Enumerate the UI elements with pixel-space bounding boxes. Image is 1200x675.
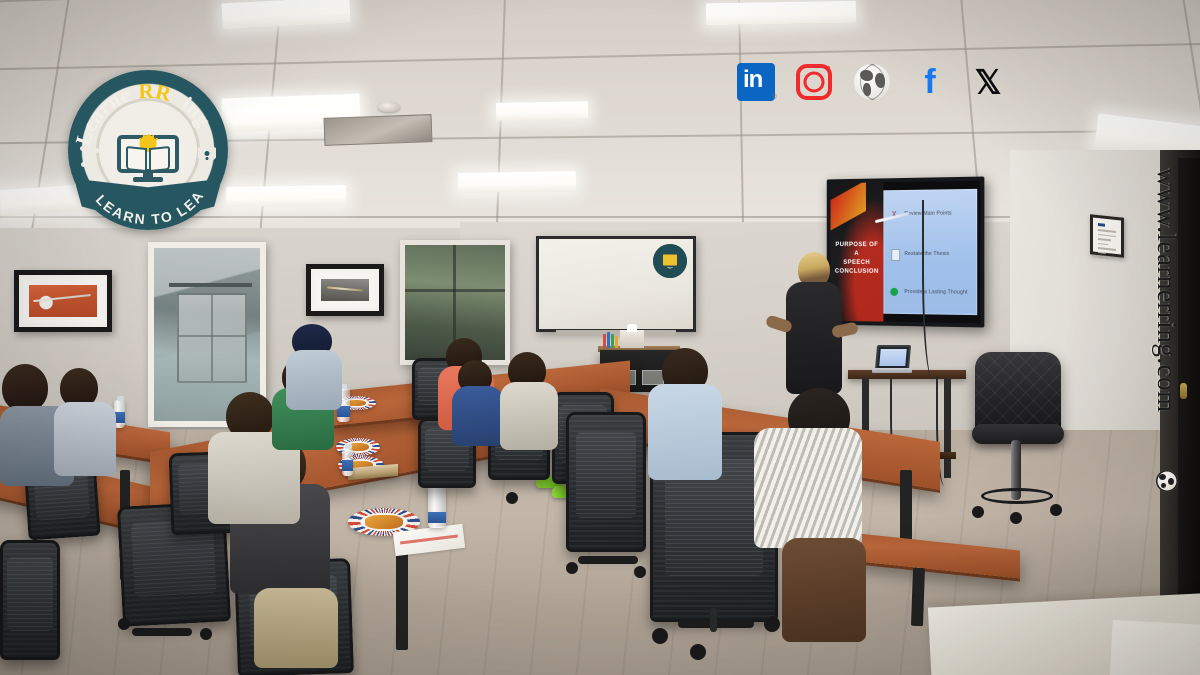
whiteboard-logo-decal: [653, 244, 687, 278]
photo-image: [29, 285, 97, 317]
student: [286, 324, 344, 410]
barn-door: [177, 293, 247, 383]
document-icon: [889, 248, 901, 260]
social-icon-bar: in ® f 𝕏: [735, 58, 995, 106]
presenter-body: [786, 282, 842, 394]
chair-caster: [200, 628, 212, 640]
registered-mark: ®: [772, 93, 777, 101]
stool-caster: [972, 506, 984, 518]
whiteboard: [536, 236, 696, 332]
student-body: [286, 350, 342, 410]
chair-base: [132, 628, 192, 636]
linkedin-label: in: [743, 66, 762, 94]
student: [500, 352, 558, 448]
bottle-label: [428, 512, 446, 523]
student-body: [648, 384, 722, 480]
website-globe-icon[interactable]: [851, 61, 893, 103]
smoke-detector-icon: [378, 102, 400, 112]
window-mullion: [405, 289, 505, 292]
instagram-icon[interactable]: [793, 61, 835, 103]
water-bottle: [342, 448, 353, 476]
aircraft-photo: [306, 264, 384, 316]
svg-text:LEARN TO LEAD: LEARN TO LEAD: [68, 70, 207, 227]
globe-badge: [854, 64, 890, 100]
chair-caster: [566, 562, 578, 574]
chair-caster: [652, 628, 668, 644]
chair-caster: [118, 618, 130, 630]
linkedin-badge: in: [737, 63, 775, 101]
barn-door-rail: [169, 283, 252, 287]
water-bottle: [428, 486, 446, 528]
url-globe-icon: [1156, 470, 1178, 492]
student-body: [452, 386, 504, 446]
student-body: [500, 382, 558, 450]
laptop-keyboard: [872, 368, 912, 373]
chair-post: [710, 608, 717, 632]
stool-base: [972, 500, 1064, 524]
instagram-dot: [826, 66, 831, 71]
student-legs: [254, 588, 338, 668]
helicopter-photo: [14, 270, 112, 332]
snack-food: [365, 515, 402, 528]
table-leg: [396, 545, 408, 650]
x-label: 𝕏: [975, 66, 1002, 99]
ceiling-light: [458, 171, 576, 193]
marker-cup: [602, 332, 618, 348]
table-leg: [900, 470, 912, 540]
table-leg: [911, 568, 925, 626]
student-head: [2, 364, 48, 412]
cable: [922, 200, 940, 380]
white-cloth: [928, 592, 1200, 675]
facebook-icon[interactable]: f: [909, 61, 951, 103]
tissue-box: [620, 330, 644, 348]
photo-scene: PURPOSE OF A SPEECH CONCLUSION Review Ma…: [0, 0, 1200, 675]
photo-image: [321, 279, 369, 301]
stool-caster: [1050, 504, 1062, 516]
laptop-screen: [875, 345, 911, 370]
logo-tagline: LEARN TO LEAD: [68, 70, 228, 230]
ceiling-light: [706, 1, 856, 26]
office-chair[interactable]: [566, 412, 646, 552]
ceiling-light: [496, 101, 588, 121]
stool-caster: [1010, 512, 1022, 524]
certificate-text-lines: [1098, 223, 1116, 249]
chair-caster: [506, 492, 518, 504]
presenter: [776, 252, 854, 392]
student-legs: [782, 538, 866, 642]
student-body: [54, 402, 116, 476]
bottle-label: [342, 460, 353, 471]
facebook-label: f: [924, 65, 935, 99]
student: [54, 368, 116, 474]
student: [452, 360, 504, 444]
ceiling-light: [226, 185, 346, 207]
ceiling-vent: [324, 114, 433, 146]
student: [748, 388, 868, 648]
linkedin-icon[interactable]: in ®: [735, 61, 777, 103]
learnerring-logo: Learne RR ing: [68, 70, 228, 230]
website-url[interactable]: www.learnerring.com: [1151, 168, 1182, 413]
student: [648, 348, 722, 478]
x-twitter-icon[interactable]: 𝕏: [967, 61, 1009, 103]
green-dot-icon: [889, 286, 901, 298]
student-body: [754, 428, 862, 548]
framed-certificate: [1090, 214, 1124, 258]
chair-caster: [690, 644, 706, 660]
chair-caster: [634, 566, 646, 578]
office-chair[interactable]: [0, 540, 60, 660]
chair-base: [578, 556, 638, 564]
